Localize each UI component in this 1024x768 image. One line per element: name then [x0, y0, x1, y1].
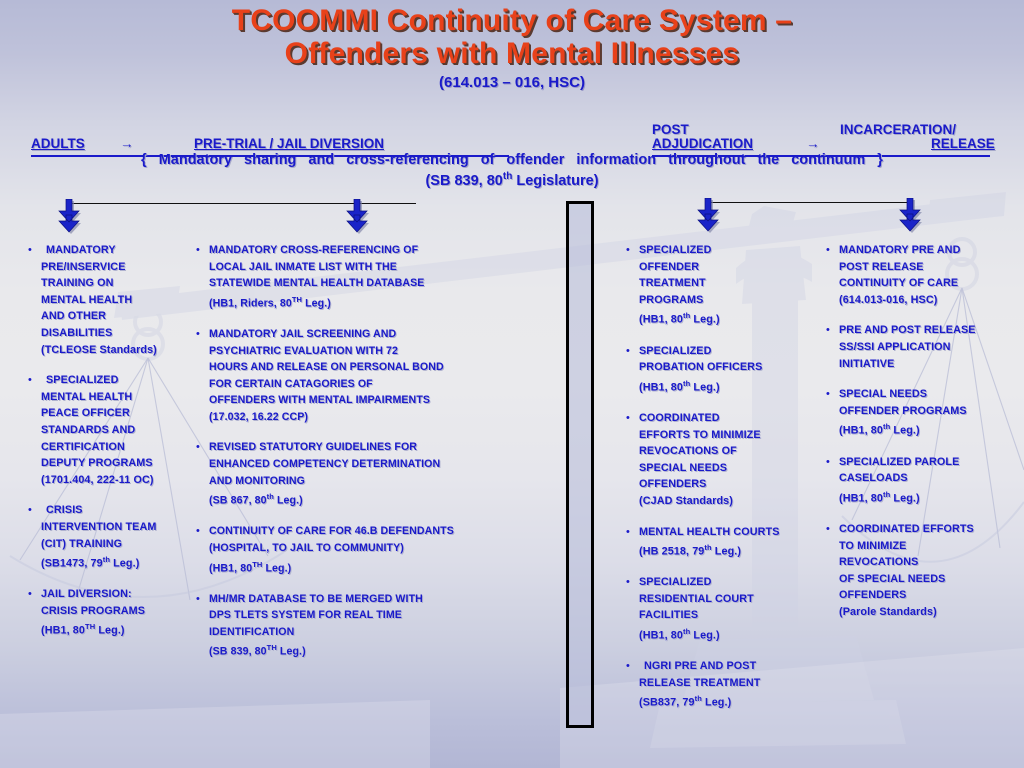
bullet-line: (HB1, 80th Leg.) — [639, 624, 826, 644]
down-arrow-post-adjudication — [696, 198, 722, 242]
bullet-line: INITIATIVE — [839, 356, 1024, 373]
bullet-dot-icon: • — [196, 245, 200, 256]
bullet-text: SPECIALIZEDPROBATION OFFICERS(HB1, 80th … — [626, 343, 826, 396]
bullet-line: IDENTIFICATION — [209, 624, 526, 641]
column-adults: •MANDATORYPRE/INSERVICETRAINING ONMENTAL… — [28, 242, 196, 654]
bullet-line: (SB1473, 79th Leg.) — [41, 552, 196, 572]
bullet-item: •MH/MR DATABASE TO BE MERGED WITHDPS TLE… — [196, 591, 526, 661]
bullet-line: TO MINIMIZE — [839, 538, 1024, 555]
bullet-line: MH/MR DATABASE TO BE MERGED WITH — [209, 591, 526, 608]
bullet-dot-icon: • — [626, 527, 630, 538]
bullet-dot-icon: • — [626, 577, 630, 588]
bullet-item: •PRE AND POST RELEASESS/SSI APPLICATIONI… — [826, 322, 1024, 372]
bullet-text: JAIL DIVERSION:CRISIS PROGRAMS(HB1, 80TH… — [28, 586, 196, 639]
bullet-line: (HB1, 80th Leg.) — [839, 419, 1024, 439]
bullet-item: •MANDATORY JAIL SCREENING ANDPSYCHIATRIC… — [196, 326, 526, 426]
bullet-line: (HB1, 80TH Leg.) — [41, 619, 196, 639]
header-adults: ADULTS — [31, 136, 85, 151]
bullet-line: (CJAD Standards) — [639, 493, 826, 510]
bullet-line: SPECIAL NEEDS — [839, 386, 1024, 403]
bullet-line: (CIT) TRAINING — [41, 536, 196, 553]
bullet-item: •NGRI PRE AND POSTRELEASE TREATMENT(SB83… — [626, 658, 826, 711]
bullet-text: NGRI PRE AND POSTRELEASE TREATMENT(SB837… — [626, 658, 826, 711]
column-post-adjudication: •SPECIALIZEDOFFENDERTREATMENTPROGRAMS(HB… — [626, 242, 826, 726]
bullet-dot-icon: • — [826, 457, 830, 468]
bullet-line: MANDATORY JAIL SCREENING AND — [209, 326, 526, 343]
bullet-dot-icon: • — [28, 245, 32, 256]
bullet-item: •SPECIALIZEDRESIDENTIAL COURTFACILITIES(… — [626, 574, 826, 644]
header-adjudication: ADJUDICATION — [652, 136, 753, 151]
bullet-text: SPECIALIZEDOFFENDERTREATMENTPROGRAMS(HB1… — [626, 242, 826, 329]
bullet-dot-icon: • — [626, 661, 630, 672]
bullet-text: SPECIALIZEDMENTAL HEALTHPEACE OFFICERSTA… — [28, 372, 196, 488]
bullet-line: (HB1, 80th Leg.) — [639, 308, 826, 328]
bullet-dot-icon: • — [196, 594, 200, 605]
bullet-line: REVOCATIONS — [839, 554, 1024, 571]
bullet-line: (HB1, 80TH Leg.) — [209, 557, 526, 577]
bullet-item: •MANDATORYPRE/INSERVICETRAINING ONMENTAL… — [28, 242, 196, 358]
bullet-line: CRISIS — [41, 502, 196, 519]
bullet-line: CERTIFICATION — [41, 439, 196, 456]
bullet-line: PROBATION OFFICERS — [639, 359, 826, 376]
bullet-line: OFFENDERS — [839, 587, 1024, 604]
bullet-line: (SB 867, 80th Leg.) — [209, 489, 526, 509]
bullet-line: CONTINUITY OF CARE — [839, 275, 1024, 292]
bullet-dot-icon: • — [626, 413, 630, 424]
bullet-item: •JAIL DIVERSION:CRISIS PROGRAMS(HB1, 80T… — [28, 586, 196, 639]
bullet-text: CRISISINTERVENTION TEAM(CIT) TRAINING(SB… — [28, 502, 196, 572]
bullet-line: STATEWIDE MENTAL HEALTH DATABASE — [209, 275, 526, 292]
mandate-word: Mandatory — [159, 152, 232, 168]
bullet-item: •COORDINATED EFFORTSTO MINIMIZEREVOCATIO… — [826, 521, 1024, 621]
bullet-line: INTERVENTION TEAM — [41, 519, 196, 536]
bullet-line: CASELOADS — [839, 470, 1024, 487]
mandate-word: and — [308, 152, 334, 168]
mandate-word: sharing — [244, 152, 296, 168]
bullet-line: CRISIS PROGRAMS — [41, 603, 196, 620]
bullet-text: MANDATORY CROSS-REFERENCING OFLOCAL JAIL… — [196, 242, 526, 312]
bullet-line: SPECIALIZED — [639, 574, 826, 591]
bullet-line: (17.032, 16.22 CCP) — [209, 409, 526, 426]
bullet-text: REVISED STATUTORY GUIDELINES FORENHANCED… — [196, 439, 526, 509]
bullet-line: RELEASE TREATMENT — [639, 675, 826, 692]
bullet-item: •MENTAL HEALTH COURTS(HB 2518, 79th Leg.… — [626, 524, 826, 561]
bullet-item: •CONTINUITY OF CARE FOR 46.B DEFENDANTS(… — [196, 523, 526, 576]
connector-line-right — [707, 202, 910, 203]
header-arrow-2-icon: → — [806, 136, 820, 151]
bullet-dot-icon: • — [826, 325, 830, 336]
bullet-line: POST RELEASE — [839, 259, 1024, 276]
mandate-statement: {Mandatorysharingandcross-referencingofo… — [0, 152, 1024, 168]
bullet-line: MENTAL HEALTH — [41, 389, 196, 406]
mandate-word: } — [877, 152, 883, 168]
column-pretrial-jail-diversion: •MANDATORY CROSS-REFERENCING OFLOCAL JAI… — [196, 242, 526, 675]
bullet-line: MANDATORY CROSS-REFERENCING OF — [209, 242, 526, 259]
bullet-text: MH/MR DATABASE TO BE MERGED WITHDPS TLET… — [196, 591, 526, 661]
bullet-item: •SPECIALIZEDPROBATION OFFICERS(HB1, 80th… — [626, 343, 826, 396]
header-arrow-1-icon: → — [120, 136, 134, 151]
bullet-line: EFFORTS TO MINIMIZE — [639, 427, 826, 444]
title-citation: (614.013 – 016, HSC) — [0, 74, 1024, 91]
header-post: POST — [652, 122, 689, 137]
bullet-text: SPECIAL NEEDSOFFENDER PROGRAMS(HB1, 80th… — [826, 386, 1024, 439]
bullet-line: OFFENDER — [639, 259, 826, 276]
bullet-line: STANDARDS AND — [41, 422, 196, 439]
bullet-text: MANDATORY PRE ANDPOST RELEASECONTINUITY … — [826, 242, 1024, 308]
column-incarceration-release: •MANDATORY PRE ANDPOST RELEASECONTINUITY… — [826, 242, 1024, 634]
bullet-line: OFFENDERS — [639, 476, 826, 493]
bullet-line: OF SPECIAL NEEDS — [839, 571, 1024, 588]
bullet-line: (614.013-016, HSC) — [839, 292, 1024, 309]
bullet-line: (HOSPITAL, TO JAIL TO COMMUNITY) — [209, 540, 526, 557]
center-divider-bar — [566, 201, 594, 728]
bullet-line: TREATMENT — [639, 275, 826, 292]
bullet-dot-icon: • — [196, 329, 200, 340]
mandate-word: information — [576, 152, 656, 168]
bullet-line: SS/SSI APPLICATION — [839, 339, 1024, 356]
bullet-item: •SPECIALIZED PAROLECASELOADS(HB1, 80th L… — [826, 454, 1024, 507]
bullet-line: (HB 2518, 79th Leg.) — [639, 540, 826, 560]
bullet-line: MENTAL HEALTH COURTS — [639, 524, 826, 541]
bullet-dot-icon: • — [196, 526, 200, 537]
bullet-line: (TCLEOSE Standards) — [41, 342, 196, 359]
page-title: TCOOMMI Continuity of Care System – Offe… — [0, 4, 1024, 91]
bullet-line: (HB1, 80th Leg.) — [839, 487, 1024, 507]
bullet-line: (HB1, 80th Leg.) — [639, 376, 826, 396]
bullet-text: CONTINUITY OF CARE FOR 46.B DEFENDANTS(H… — [196, 523, 526, 576]
bullet-item: •SPECIALIZEDMENTAL HEALTHPEACE OFFICERST… — [28, 372, 196, 488]
bullet-item: •MANDATORY CROSS-REFERENCING OFLOCAL JAI… — [196, 242, 526, 312]
bullet-text: SPECIALIZEDRESIDENTIAL COURTFACILITIES(H… — [626, 574, 826, 644]
down-arrow-incarceration-release — [898, 198, 924, 242]
bullet-line: MANDATORY PRE AND — [839, 242, 1024, 259]
bullet-line: (Parole Standards) — [839, 604, 1024, 621]
header-release: RELEASE — [931, 136, 995, 151]
bullet-dot-icon: • — [826, 524, 830, 535]
bullet-item: •SPECIAL NEEDSOFFENDER PROGRAMS(HB1, 80t… — [826, 386, 1024, 439]
bullet-line: PROGRAMS — [639, 292, 826, 309]
bullet-line: COORDINATED — [639, 410, 826, 427]
bullet-line: (1701.404, 222-11 OC) — [41, 472, 196, 489]
bullet-line: SPECIALIZED — [41, 372, 196, 389]
bullet-line: OFFENDER PROGRAMS — [839, 403, 1024, 420]
bullet-line: SPECIALIZED PAROLE — [839, 454, 1024, 471]
mandate-citation: (SB 839, 80th Legislature) — [0, 171, 1024, 189]
bullet-line: REVISED STATUTORY GUIDELINES FOR — [209, 439, 526, 456]
bullet-text: PRE AND POST RELEASESS/SSI APPLICATIONIN… — [826, 322, 1024, 372]
bullet-text: COORDINATED EFFORTSTO MINIMIZEREVOCATION… — [826, 521, 1024, 621]
down-arrow-adults — [57, 199, 83, 243]
bullet-item: •COORDINATEDEFFORTS TO MINIMIZEREVOCATIO… — [626, 410, 826, 510]
bullet-text: COORDINATEDEFFORTS TO MINIMIZEREVOCATION… — [626, 410, 826, 510]
bullet-line: SPECIAL NEEDS — [639, 460, 826, 477]
mandate-word: offender — [506, 152, 564, 168]
mandate-word: the — [757, 152, 779, 168]
bullet-line: FACILITIES — [639, 607, 826, 624]
bullet-line: SPECIALIZED — [639, 242, 826, 259]
header-pretrial: PRE-TRIAL / JAIL DIVERSION — [194, 136, 384, 151]
bullet-line: AND MONITORING — [209, 473, 526, 490]
bullet-item: •MANDATORY PRE ANDPOST RELEASECONTINUITY… — [826, 242, 1024, 308]
bullet-item: •REVISED STATUTORY GUIDELINES FORENHANCE… — [196, 439, 526, 509]
bullet-line: JAIL DIVERSION: — [41, 586, 196, 603]
title-line-1: TCOOMMI Continuity of Care System – — [0, 4, 1024, 37]
bullet-line: AND OTHER — [41, 308, 196, 325]
bullet-item: •SPECIALIZEDOFFENDERTREATMENTPROGRAMS(HB… — [626, 242, 826, 329]
bullet-line: MENTAL HEALTH — [41, 292, 196, 309]
bullet-dot-icon: • — [826, 245, 830, 256]
mandate-word: of — [481, 152, 495, 168]
bullet-line: (SB 839, 80TH Leg.) — [209, 640, 526, 660]
bullet-line: (SB837, 79th Leg.) — [639, 691, 826, 711]
bullet-dot-icon: • — [196, 442, 200, 453]
mandate-word: cross-referencing — [346, 152, 469, 168]
bullet-dot-icon: • — [28, 375, 32, 386]
bullet-dot-icon: • — [626, 245, 630, 256]
bullet-dot-icon: • — [28, 589, 32, 600]
bullet-line: NGRI PRE AND POST — [639, 658, 826, 675]
mandate-word: { — [141, 152, 147, 168]
bullet-line: FOR CERTAIN CATAGORIES OF — [209, 376, 526, 393]
bullet-line: LOCAL JAIL INMATE LIST WITH THE — [209, 259, 526, 276]
bullet-line: SPECIALIZED — [639, 343, 826, 360]
bullet-line: COORDINATED EFFORTS — [839, 521, 1024, 538]
bullet-text: MENTAL HEALTH COURTS(HB 2518, 79th Leg.) — [626, 524, 826, 561]
bullet-item: •CRISISINTERVENTION TEAM(CIT) TRAINING(S… — [28, 502, 196, 572]
bullet-text: SPECIALIZED PAROLECASELOADS(HB1, 80th Le… — [826, 454, 1024, 507]
bullet-line: CONTINUITY OF CARE FOR 46.B DEFENDANTS — [209, 523, 526, 540]
bullet-dot-icon: • — [826, 389, 830, 400]
bullet-line: REVOCATIONS OF — [639, 443, 826, 460]
title-line-2: Offenders with Mental Illnesses — [0, 37, 1024, 70]
header-incarceration: INCARCERATION/ — [840, 122, 956, 137]
bullet-line: PRE/INSERVICE — [41, 259, 196, 276]
bullet-line: HOURS AND RELEASE ON PERSONAL BOND — [209, 359, 526, 376]
bullet-dot-icon: • — [626, 346, 630, 357]
bullet-line: DPS TLETS SYSTEM FOR REAL TIME — [209, 607, 526, 624]
bullet-line: PSYCHIATRIC EVALUATION WITH 72 — [209, 343, 526, 360]
down-arrow-pretrial — [345, 199, 371, 243]
bullet-line: OFFENDERS WITH MENTAL IMPAIRMENTS — [209, 392, 526, 409]
mandate-word: throughout — [668, 152, 745, 168]
bullet-text: MANDATORYPRE/INSERVICETRAINING ONMENTAL … — [28, 242, 196, 358]
bullet-line: MANDATORY — [41, 242, 196, 259]
bullet-line: PEACE OFFICER — [41, 405, 196, 422]
bullet-line: ENHANCED COMPETENCY DETERMINATION — [209, 456, 526, 473]
bullet-line: DISABILITIES — [41, 325, 196, 342]
bullet-line: TRAINING ON — [41, 275, 196, 292]
bullet-line: RESIDENTIAL COURT — [639, 591, 826, 608]
mandate-word: continuum — [791, 152, 865, 168]
bullet-dot-icon: • — [28, 505, 32, 516]
bullet-text: MANDATORY JAIL SCREENING ANDPSYCHIATRIC … — [196, 326, 526, 426]
bullet-line: (HB1, Riders, 80TH Leg.) — [209, 292, 526, 312]
bullet-line: DEPUTY PROGRAMS — [41, 455, 196, 472]
bullet-line: PRE AND POST RELEASE — [839, 322, 1024, 339]
